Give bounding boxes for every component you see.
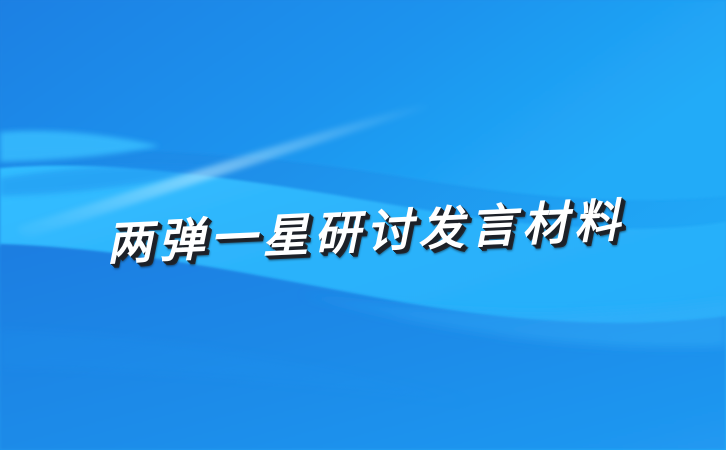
cover-slide: 两弹一星研讨发言材料 [0,0,726,450]
title-block: 两弹一星研讨发言材料 [0,186,726,278]
page-title: 两弹一星研讨发言材料 [99,197,627,267]
